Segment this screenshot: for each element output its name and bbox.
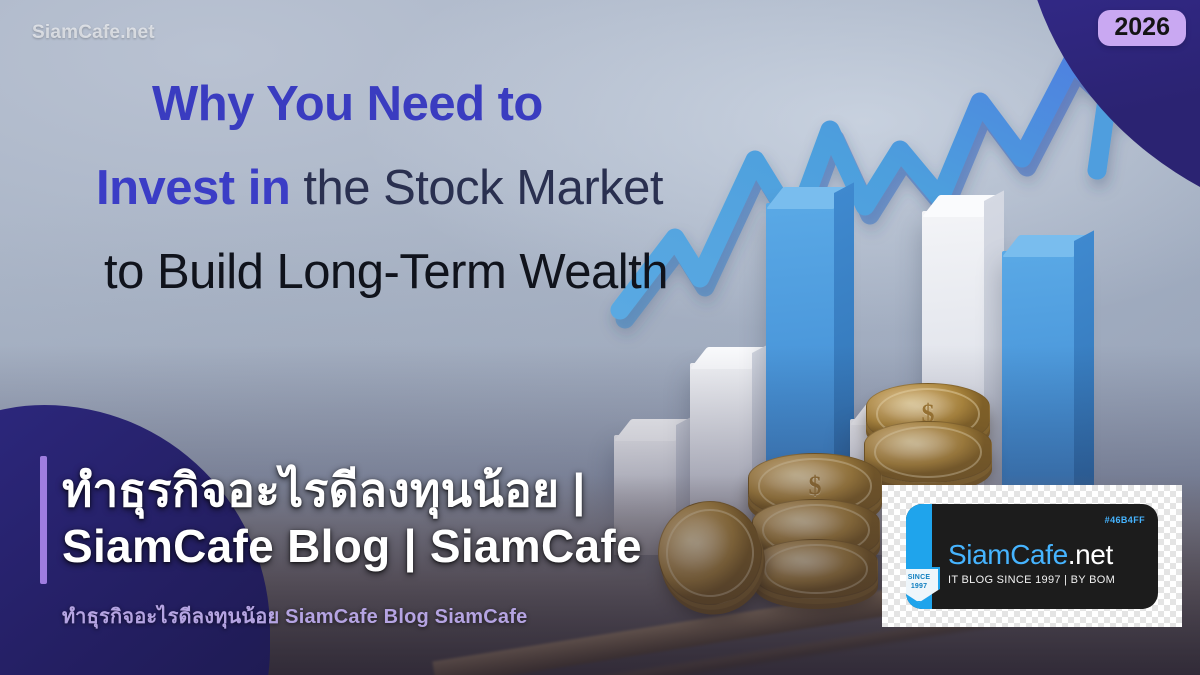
- page-title-line-1: ทำธุรกิจอะไรดีลงทุนน้อย |: [62, 462, 862, 518]
- logo-hex-code: #46B4FF: [1105, 515, 1145, 525]
- page-title-line-2: SiamCafe Blog | SiamCafe: [62, 518, 862, 574]
- logo-plate: SINCE 1997 #46B4FF SiamCafe.net IT BLOG …: [882, 485, 1182, 627]
- poster-canvas: $ $ Why You Need to Invest in the Stock …: [0, 0, 1200, 675]
- title-accent-bar: [40, 456, 47, 584]
- logo-tagline: IT BLOG SINCE 1997 | BY BOM: [948, 574, 1144, 586]
- logo-body: #46B4FF SiamCafe.net IT BLOG SINCE 1997 …: [932, 504, 1158, 609]
- poster-headline: Why You Need to Invest in the Stock Mark…: [96, 62, 776, 314]
- headline-line-2-bold: Invest in: [96, 161, 290, 215]
- shield-line-1: SINCE: [908, 573, 930, 582]
- logo-brand: SiamCafe.net: [948, 539, 1144, 571]
- headline-line-3-text: to Build Long-Term Wealth: [104, 245, 668, 299]
- headline-line-3: to Build Long-Term Wealth: [96, 230, 776, 314]
- headline-line-2: Invest in the Stock Market: [96, 146, 776, 230]
- logo-accent-stripe: SINCE 1997: [906, 504, 932, 609]
- year-badge: 2026: [1098, 10, 1186, 46]
- page-subtitle: ทำธุรกิจอะไรดีลงทุนน้อย SiamCafe Blog Si…: [62, 600, 922, 632]
- headline-line-1: Why You Need to: [96, 62, 776, 146]
- headline-line-2-normal: the Stock Market: [290, 161, 663, 215]
- headline-line-1-bold: Why You Need to: [152, 77, 543, 131]
- logo-brand-suffix: .net: [1068, 539, 1113, 570]
- shield-line-2: 1997: [911, 582, 927, 591]
- siamcafe-logo-card: SINCE 1997 #46B4FF SiamCafe.net IT BLOG …: [906, 504, 1158, 609]
- logo-brand-primary: SiamCafe: [948, 539, 1068, 570]
- page-title: ทำธุรกิจอะไรดีลงทุนน้อย | SiamCafe Blog …: [62, 462, 862, 574]
- site-watermark: SiamCafe.net: [32, 22, 155, 44]
